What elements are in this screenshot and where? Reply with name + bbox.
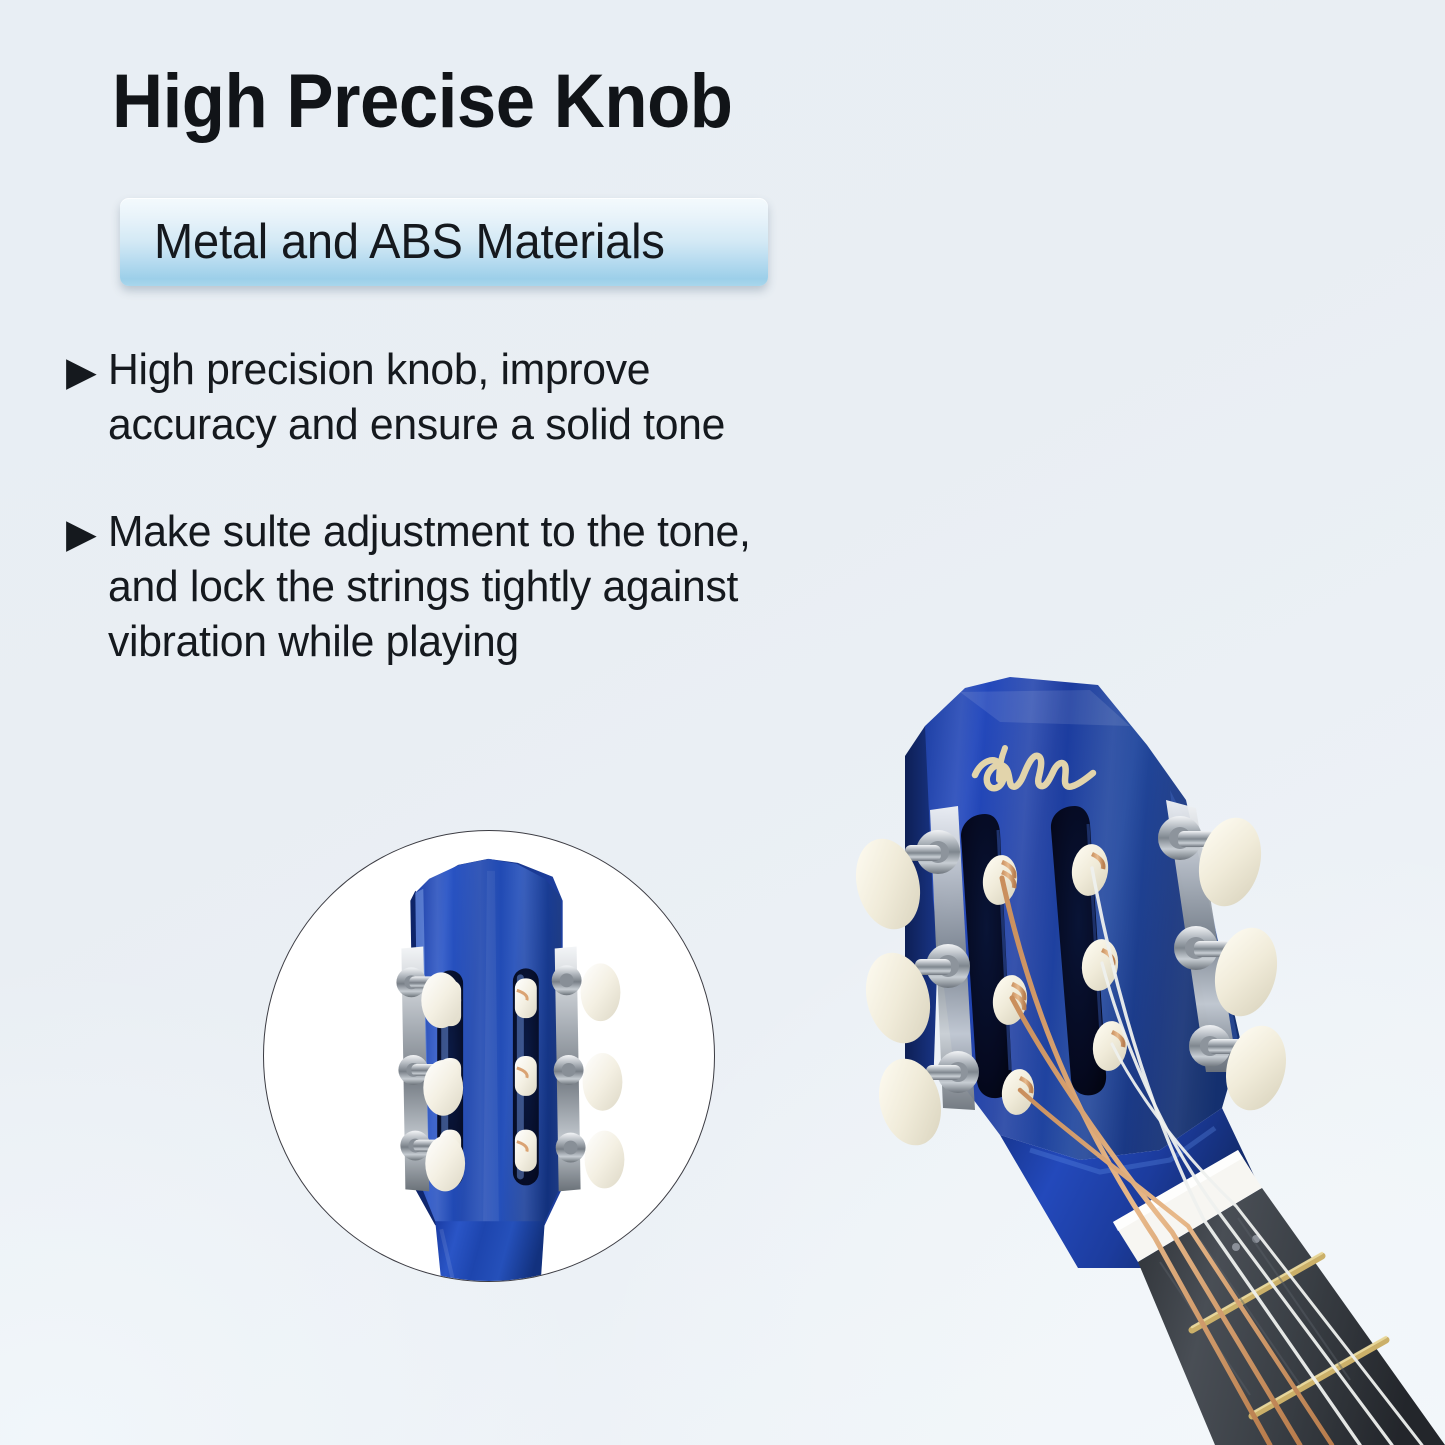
status-badge: Metal and ABS Materials	[120, 198, 768, 286]
guitar-strings	[1002, 868, 1422, 1445]
headstock-top-highlight	[960, 690, 1130, 726]
tuner-gear-left-1	[847, 830, 960, 936]
tuner-gear-right-3	[1189, 1019, 1295, 1116]
tuner-plate-left	[930, 806, 975, 1110]
bullet-line: vibration while playing	[108, 614, 940, 669]
headstock-face	[925, 677, 1241, 1160]
inset-tuners-left	[396, 946, 465, 1191]
triangle-bullet-icon: ▶	[66, 504, 108, 564]
guitar-nut	[1113, 1150, 1262, 1262]
inset-illustration	[264, 831, 714, 1281]
string-slot-left	[961, 814, 1012, 1098]
tuner-plate-right	[1166, 800, 1238, 1072]
inset-tuner-button-left-2	[423, 1060, 463, 1116]
tuning-machines-right	[1158, 800, 1295, 1117]
string-slot-right	[1051, 806, 1106, 1095]
tuner-button-right-2	[1206, 921, 1286, 1023]
inset-tuner-button-right-2	[583, 1053, 623, 1111]
bullet-line: Make sulte adjustment to the tone,	[108, 504, 940, 559]
inset-tuner-button-right-1	[581, 963, 621, 1021]
headstock-body	[905, 677, 1241, 1160]
tuner-gear-right-2	[1174, 921, 1286, 1023]
tuner-gear-left-2	[857, 944, 970, 1050]
headstock-string-slots	[961, 806, 1106, 1098]
tuner-posts	[980, 842, 1130, 1117]
tuner-button-left-3	[870, 1052, 950, 1152]
guitar-neck	[1000, 1108, 1268, 1268]
product-feature-page: High Precise Knob Metal and ABS Material…	[0, 0, 1445, 1445]
tuner-button-right-3	[1217, 1019, 1294, 1116]
list-item: ▶ Make sulte adjustment to the tone, and…	[66, 504, 966, 669]
inset-tuner-button-left-1	[421, 972, 461, 1028]
feature-bullet-list: ▶ High precision knob, improve accuracy …	[66, 342, 966, 721]
fretboard	[1138, 1188, 1445, 1445]
bullet-text: High precision knob, improve accuracy an…	[108, 342, 940, 452]
badge-label: Metal and ABS Materials	[154, 214, 665, 270]
bullet-text: Make sulte adjustment to the tone, and l…	[108, 504, 940, 669]
bullet-line: and lock the strings tightly against	[108, 559, 940, 614]
triangle-bullet-icon: ▶	[66, 342, 108, 402]
inset-tuner-button-left-3	[425, 1136, 465, 1192]
brand-logo-adm	[975, 748, 1093, 788]
tuner-gear-left-3	[870, 1051, 979, 1152]
frets	[1192, 1256, 1386, 1416]
headstock-right-sheen	[1170, 790, 1238, 1060]
tuner-button-left-1	[847, 832, 929, 936]
tuner-button-left-2	[857, 946, 939, 1050]
headstock-left-bevel	[905, 726, 945, 1092]
page-title: High Precise Knob	[112, 62, 732, 142]
tuner-button-right-1	[1190, 811, 1270, 913]
list-item: ▶ High precision knob, improve accuracy …	[66, 342, 966, 452]
headstock-closeup-inset	[263, 830, 715, 1282]
bullet-line: High precision knob, improve	[108, 342, 940, 397]
tuning-machines-left	[847, 806, 979, 1152]
neck-heel	[1000, 1108, 1268, 1268]
tuner-gear-right-1	[1158, 811, 1270, 913]
bullet-line: accuracy and ensure a solid tone	[108, 397, 940, 452]
headstock-grain	[925, 677, 1241, 1160]
inset-tuners-right	[552, 946, 625, 1191]
inset-tuner-button-right-3	[585, 1131, 625, 1189]
